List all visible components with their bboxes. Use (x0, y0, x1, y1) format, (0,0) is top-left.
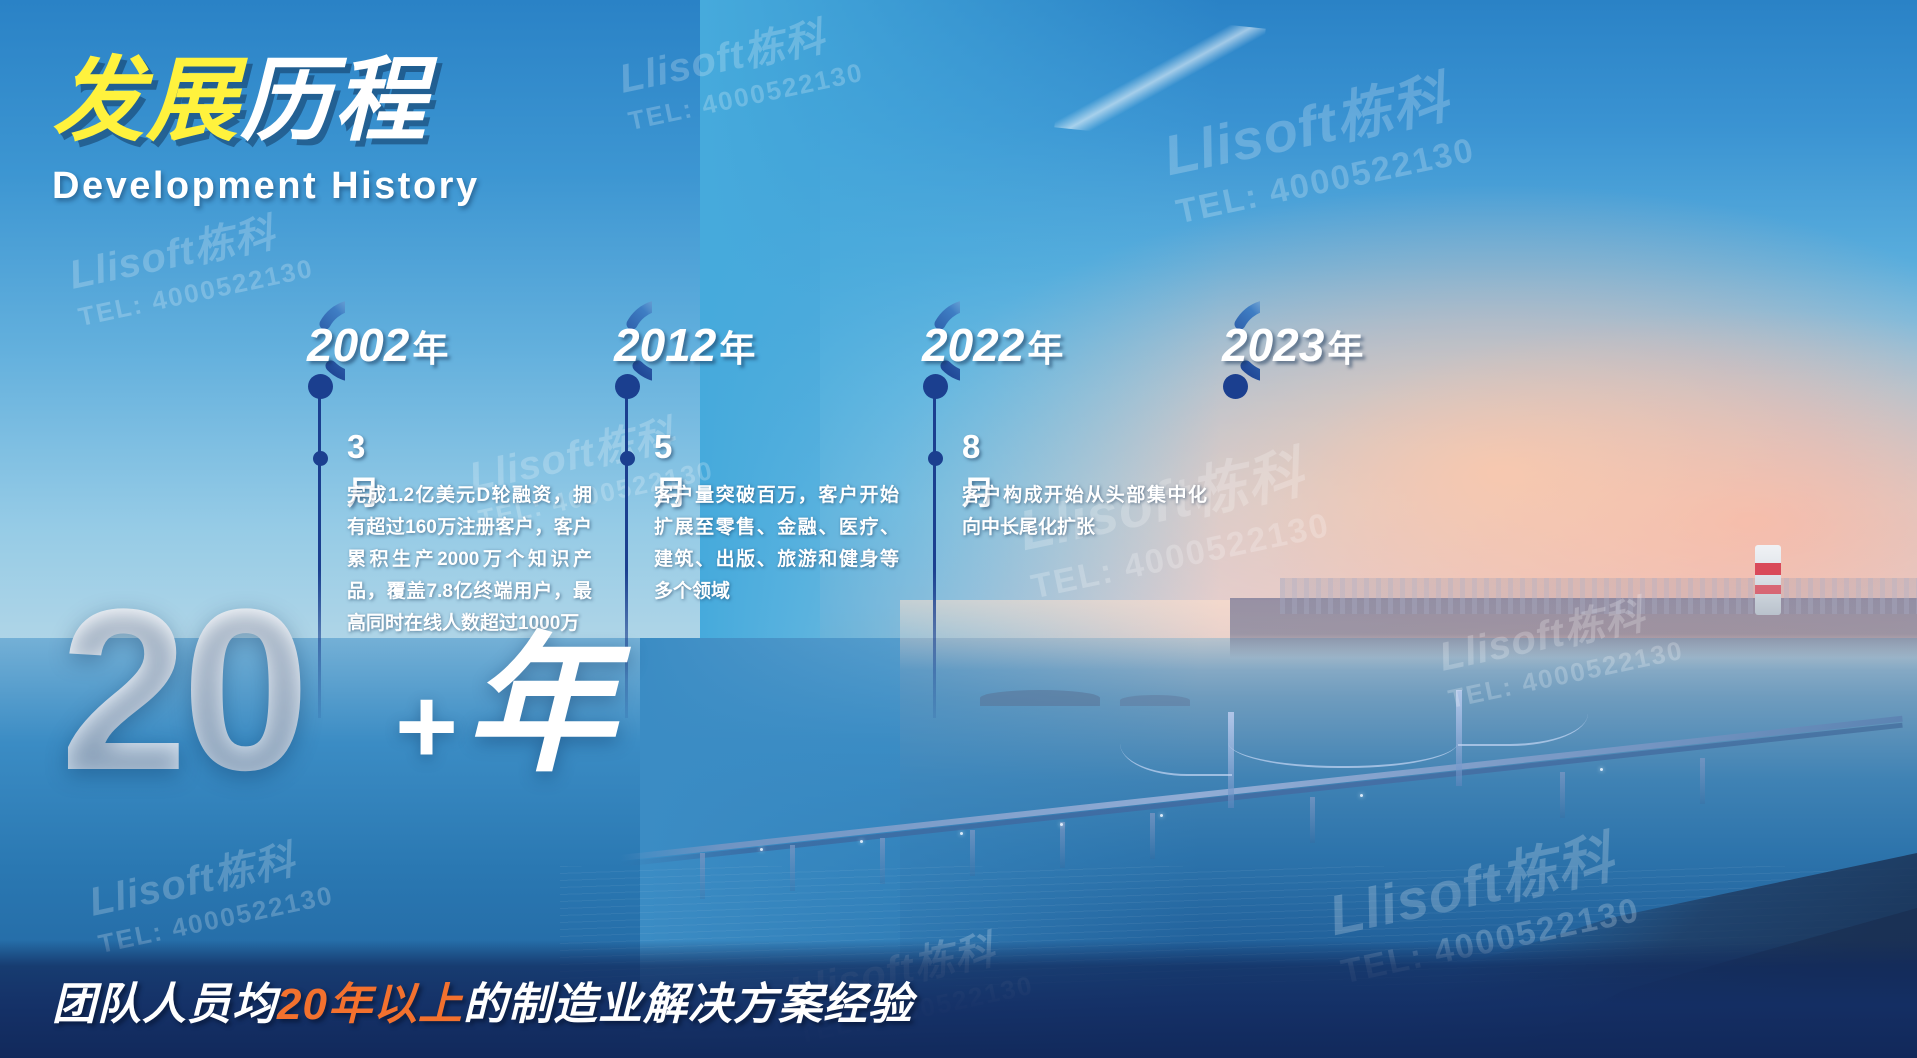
timeline-year: 2012年 (614, 318, 755, 372)
timeline-year-value: 2012 (614, 319, 716, 371)
timeline-year: 2002年 (307, 318, 448, 372)
timeline-year-value: 2022 (922, 319, 1024, 371)
timeline-description: 完成1.2亿美元D轮融资，拥有超过160万注册客户，客户累积生产2000万个知识… (347, 480, 592, 640)
timeline-year-value: 2002 (307, 319, 409, 371)
bottom-banner-text: 团队人员均20年以上的制造业解决方案经验 (52, 968, 913, 1032)
timeline-dot-small (313, 451, 328, 466)
timeline-year: 2022年 (922, 318, 1063, 372)
hero-number: 20 (60, 575, 304, 805)
timeline-description: 客户量突破百万，客户开始扩展至零售、金融、医疗、建筑、出版、旅游和健身等多个领域 (654, 480, 899, 608)
timeline-year-suffix: 年 (719, 328, 755, 369)
timeline-dot-small (620, 451, 635, 466)
banner-highlight: 20年以上 (277, 980, 463, 1029)
development-timeline: 2002年 3月 完成1.2亿美元D轮融资，拥有超过160万注册客户，客户累积生… (0, 0, 1917, 1058)
timeline-dot-large (615, 374, 640, 399)
timeline-year-suffix: 年 (1027, 328, 1063, 369)
timeline-dot-large (1223, 374, 1248, 399)
timeline-stem (318, 388, 321, 718)
poster-canvas: Llisoft栋科 TEL: 4000522130 Llisoft栋科 TEL:… (0, 0, 1917, 1058)
bottom-banner: 团队人员均20年以上的制造业解决方案经验 (0, 940, 1917, 1058)
timeline-dot-small (928, 451, 943, 466)
hero-unit: 年 (465, 630, 615, 780)
timeline-dot-large (308, 374, 333, 399)
hero-plus-symbol: + (395, 672, 458, 780)
timeline-year-suffix: 年 (412, 328, 448, 369)
timeline-year-suffix: 年 (1327, 328, 1363, 369)
timeline-dot-large (923, 374, 948, 399)
banner-suffix: 的制造业解决方案经验 (463, 980, 913, 1029)
timeline-stem (625, 388, 628, 718)
timeline-description: 客户构成开始从头部集中化向中长尾化扩张 (962, 480, 1207, 544)
timeline-year-value: 2023 (1222, 319, 1324, 371)
banner-prefix: 团队人员均 (52, 980, 277, 1029)
timeline-stem (933, 388, 936, 718)
timeline-year: 2023年 (1222, 318, 1363, 372)
